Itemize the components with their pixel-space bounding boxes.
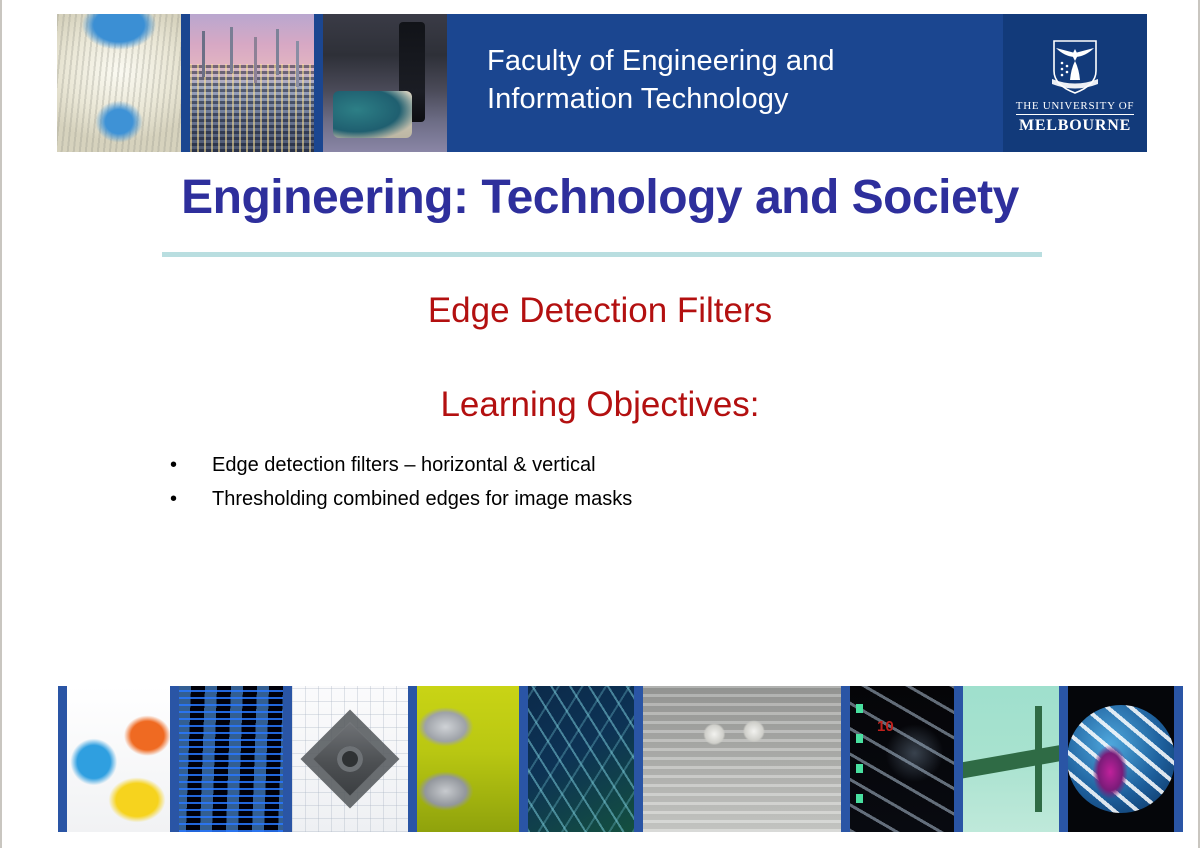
learning-objectives-heading: Learning Objectives: xyxy=(2,385,1198,425)
faculty-title-line-2: Information Technology xyxy=(487,81,987,119)
header-photo-divider xyxy=(314,14,323,152)
footer-image-divider xyxy=(634,686,643,832)
university-crest-icon xyxy=(1044,35,1106,97)
industrial-plant-dusk-photo xyxy=(190,14,314,152)
university-logo-line-2: MELBOURNE xyxy=(1019,117,1131,135)
header-photo-divider xyxy=(181,14,190,152)
bullet-marker-icon: • xyxy=(170,489,212,509)
footer-image-divider xyxy=(519,686,528,832)
list-item: • Edge detection filters – horizontal & … xyxy=(170,454,970,476)
dial-number-label: 10 xyxy=(877,718,894,735)
list-item-label: Edge detection filters – horizontal & ve… xyxy=(212,454,596,476)
footer-image-divider xyxy=(58,686,67,832)
university-logo-line-1: THE UNIVERSITY OF xyxy=(1016,100,1134,115)
blue-source-code-photo xyxy=(179,686,283,832)
bullet-marker-icon: • xyxy=(170,455,212,475)
title-divider-rule xyxy=(162,252,1042,257)
faculty-title-line-1: Faculty of Engineering and xyxy=(487,43,987,81)
slide-subtitle: Edge Detection Filters xyxy=(2,291,1198,331)
satellite-earth-weather-photo xyxy=(1068,686,1174,832)
footer-image-divider xyxy=(1174,686,1183,832)
slide-header-banner: Faculty of Engineering and Information T… xyxy=(57,14,1147,152)
beakers-colored-liquids-photo xyxy=(67,686,170,832)
faculty-title-block: Faculty of Engineering and Information T… xyxy=(447,14,987,152)
list-item: • Thresholding combined edges for image … xyxy=(170,488,970,510)
cad-impeller-render-photo xyxy=(292,686,408,832)
footer-image-divider xyxy=(954,686,963,832)
green-bridge-photo xyxy=(963,686,1059,832)
footer-image-strip: 10 xyxy=(58,686,1147,832)
pipe-rig-pressure-gauges-photo xyxy=(643,686,841,832)
lab-microscope-photo xyxy=(323,14,447,152)
3d-printed-lattice-photo xyxy=(57,14,181,152)
footer-image-divider xyxy=(1059,686,1068,832)
footer-image-divider xyxy=(283,686,292,832)
footer-image-divider xyxy=(170,686,179,832)
page-title: Engineering: Technology and Society xyxy=(2,170,1198,225)
dark-instrument-dial-photo: 10 xyxy=(850,686,954,832)
slide-page: Faculty of Engineering and Information T… xyxy=(0,0,1200,848)
learning-objectives-list: • Edge detection filters – horizontal & … xyxy=(170,454,970,522)
university-logo-block: THE UNIVERSITY OF MELBOURNE xyxy=(987,14,1147,152)
footer-image-divider xyxy=(841,686,850,832)
footer-image-divider xyxy=(408,686,417,832)
circuit-board-traces-photo xyxy=(528,686,634,832)
machinery-bearings-photo xyxy=(417,686,519,832)
list-item-label: Thresholding combined edges for image ma… xyxy=(212,488,632,510)
